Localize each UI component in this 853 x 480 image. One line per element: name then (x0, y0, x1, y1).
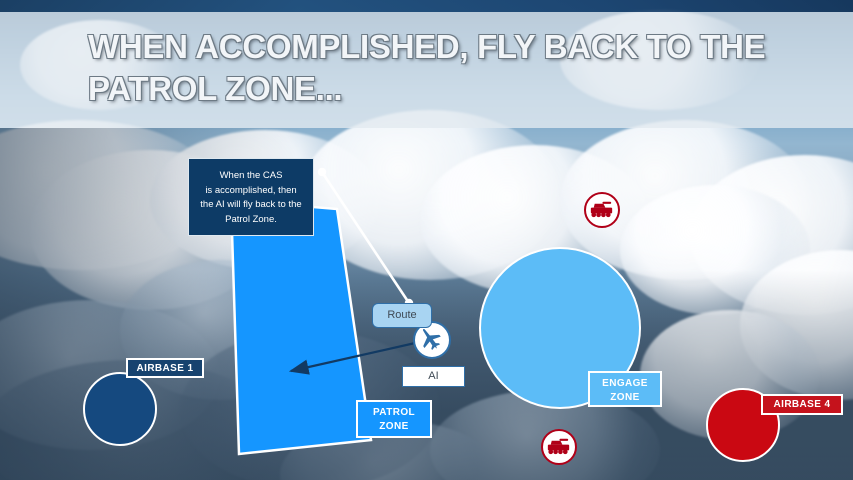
engage-zone-label-line-1: ENGAGE (590, 377, 660, 391)
hostile-unit-marker-north[interactable] (584, 192, 620, 228)
page-title: WHEN ACCOMPLISHED, FLY BACK TO THE PATRO… (88, 26, 788, 110)
callout-box: When the CAS is accomplished, then the A… (188, 158, 314, 236)
tank-icon (543, 431, 574, 462)
top-accent-strip (0, 0, 853, 12)
airbase-4-label[interactable]: AIRBASE 4 (761, 394, 843, 415)
callout-line-3: the AI will fly back to the (189, 198, 313, 213)
callout-line-2: is accomplished, then (189, 184, 313, 199)
airbase-1-label[interactable]: AIRBASE 1 (126, 358, 204, 378)
route-label[interactable]: Route (372, 303, 432, 328)
airbase-1-marker[interactable] (83, 372, 157, 446)
tank-icon (586, 194, 617, 225)
callout-line-4: Patrol Zone. (189, 213, 313, 228)
hostile-unit-marker-south[interactable] (541, 429, 577, 465)
patrol-zone-label-line-2: ZONE (358, 420, 430, 434)
engage-zone-label[interactable]: ENGAGE ZONE (588, 371, 662, 407)
patrol-zone-label-line-1: PATROL (358, 406, 430, 420)
slide-canvas: WHEN ACCOMPLISHED, FLY BACK TO THE PATRO… (0, 0, 853, 480)
callout-line-1: When the CAS (189, 169, 313, 184)
engage-zone-label-line-2: ZONE (590, 391, 660, 405)
ai-label[interactable]: AI (402, 366, 465, 387)
patrol-zone-label[interactable]: PATROL ZONE (356, 400, 432, 438)
